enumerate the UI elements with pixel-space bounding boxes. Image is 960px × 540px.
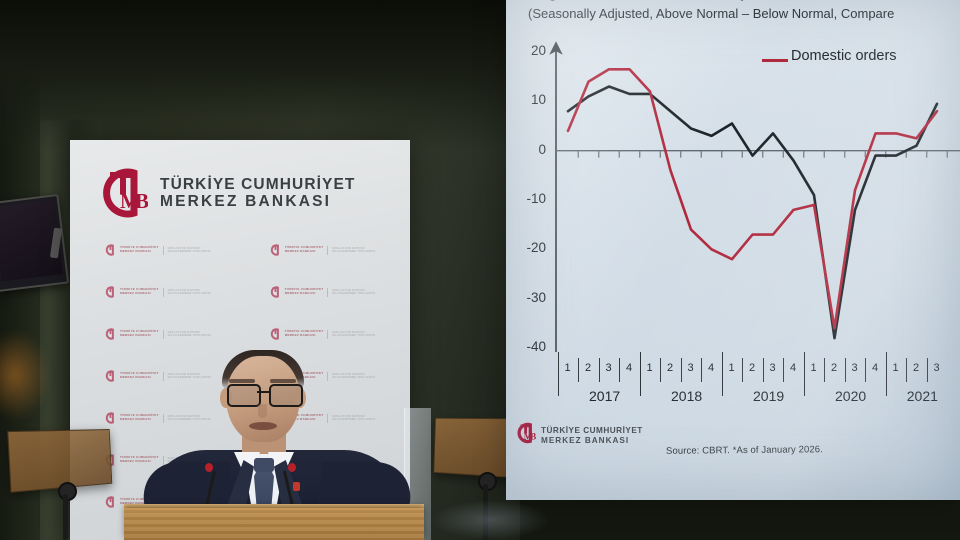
watermark-divider — [163, 288, 164, 297]
watermark-bank-line-2: MERKEZ BANKASI — [120, 334, 159, 338]
watermark-divider — [163, 330, 164, 339]
year-label: 2019 — [753, 388, 784, 404]
quarter-label: 2 — [831, 362, 837, 374]
quarter-label: 2 — [913, 362, 919, 374]
quarter-label: 1 — [729, 362, 735, 374]
watermark-item: TÜRKİYE CUMHURİYETMERKEZ BANKASIENFLASYO… — [104, 244, 211, 256]
year-separator — [804, 352, 805, 396]
year-separator — [640, 352, 641, 396]
y-tick-label: 20 — [512, 43, 546, 58]
quarter-label: 3 — [934, 362, 940, 374]
watermark-bank-name: TÜRKİYE CUMHURİYETMERKEZ BANKASI — [285, 246, 324, 253]
quarter-separator — [660, 358, 661, 382]
speaker-mouth — [249, 422, 277, 430]
eyeglass-lens-left — [227, 384, 261, 407]
watermark-row: TÜRKİYE CUMHURİYETMERKEZ BANKASIENFLASYO… — [70, 328, 410, 340]
watermark-event-name: ENFLASYON RAPORUBİLGİLENDİRME TOPLANTISI — [332, 247, 375, 253]
quarter-label: 3 — [688, 362, 694, 374]
slide-logo-line-1: TÜRKİYE CUMHURİYET — [541, 426, 643, 435]
backdrop-wordmark: TÜRKİYE CUMHURİYET MERKEZ BANKASI — [160, 176, 355, 211]
quarter-separator — [681, 358, 682, 382]
year-label: 2021 — [907, 388, 938, 404]
year-label: 2018 — [671, 388, 702, 404]
watermark-event-name: ENFLASYON RAPORUBİLGİLENDİRME TOPLANTISI — [168, 289, 211, 295]
quarter-separator — [783, 358, 784, 382]
quarter-label: 3 — [770, 362, 776, 374]
quarter-label: 3 — [606, 362, 612, 374]
eyeglass-lens-right — [269, 384, 303, 407]
slide-logo-line-2: MERKEZ BANKASI — [541, 436, 643, 445]
legend-swatch-domestic-orders — [762, 59, 788, 62]
watermark-event-name: ENFLASYON RAPORUBİLGİLENDİRME TOPLANTISI — [168, 247, 211, 253]
watermark-bank-line-2: MERKEZ BANKASI — [120, 250, 159, 254]
tcmb-logo-icon-tiny — [104, 244, 116, 256]
quarter-separator — [865, 358, 866, 382]
speaker-nose — [258, 404, 267, 418]
year-separator — [558, 352, 559, 396]
tcmb-logo-icon-tiny — [104, 496, 116, 508]
y-tick-label: -40 — [512, 339, 546, 354]
watermark-bank-name: TÜRKİYE CUMHURİYETMERKEZ BANKASI — [285, 288, 324, 295]
watermark-item: TÜRKİYE CUMHURİYETMERKEZ BANKASIENFLASYO… — [269, 286, 376, 298]
speaker-eyeglasses — [227, 384, 299, 403]
watermark-item: TÜRKİYE CUMHURİYETMERKEZ BANKASIENFLASYO… — [269, 328, 376, 340]
room-ceiling-shadow — [0, 0, 520, 150]
watermark-divider — [327, 246, 328, 255]
quarter-separator — [927, 358, 928, 382]
quarter-separator — [619, 358, 620, 382]
watermark-event-line-2: BİLGİLENDİRME TOPLANTISI — [332, 334, 375, 337]
speaker-tie-knot — [254, 458, 274, 472]
tcmb-logo-icon-tiny — [104, 328, 116, 340]
watermark-item: TÜRKİYE CUMHURİYETMERKEZ BANKASIENFLASYO… — [269, 244, 376, 256]
watermark-event-line-2: BİLGİLENDİRME TOPLANTISI — [332, 250, 375, 253]
slide-footer-wordmark: TÜRKİYE CUMHURİYET MERKEZ BANKASI — [541, 426, 643, 444]
watermark-bank-name: TÜRKİYE CUMHURİYETMERKEZ BANKASI — [120, 246, 159, 253]
quarter-label: 1 — [893, 362, 899, 374]
y-tick-label: -20 — [512, 240, 546, 255]
speaker-lapel-pin — [293, 482, 300, 491]
watermark-event-line-2: BİLGİLENDİRME TOPLANTISI — [332, 292, 375, 295]
tcmb-logo-icon-small: M B — [514, 422, 536, 449]
teleprompter-left — [7, 429, 112, 493]
watermark-bank-name: TÜRKİYE CUMHURİYETMERKEZ BANKASI — [120, 288, 159, 295]
microphone-right-head — [288, 463, 296, 472]
backdrop-logo-line-1: TÜRKİYE CUMHURİYET — [160, 176, 355, 193]
watermark-event-line-2: BİLGİLENDİRME TOPLANTISI — [168, 250, 211, 253]
quarter-separator — [742, 358, 743, 382]
speaker-eyebrow-right — [270, 379, 296, 383]
watermark-bank-name: TÜRKİYE CUMHURİYETMERKEZ BANKASI — [285, 330, 324, 337]
projected-slide: Registered Domestic and Export Orders (S… — [506, 0, 960, 500]
tcmb-logo-icon-tiny — [269, 328, 281, 340]
year-label: 2020 — [835, 388, 866, 404]
quarter-label: 2 — [749, 362, 755, 374]
y-tick-label: 10 — [512, 92, 546, 107]
year-label: 2017 — [589, 388, 620, 404]
year-separator — [722, 352, 723, 396]
watermark-event-name: ENFLASYON RAPORUBİLGİLENDİRME TOPLANTISI — [332, 331, 375, 337]
microphone-left-head — [205, 463, 213, 472]
quarter-separator — [599, 358, 600, 382]
quarter-separator — [701, 358, 702, 382]
quarter-separator — [824, 358, 825, 382]
tcmb-logo-icon: M B — [94, 166, 148, 220]
svg-text:B: B — [135, 189, 148, 213]
watermark-divider — [163, 246, 164, 255]
tcmb-logo-icon-tiny — [104, 412, 116, 424]
watermark-event-line-2: BİLGİLENDİRME TOPLANTISI — [168, 292, 211, 295]
speaker-eyebrow-left — [229, 379, 255, 383]
watermark-divider — [327, 330, 328, 339]
eyeglass-bridge — [257, 391, 269, 393]
quarter-label: 3 — [852, 362, 858, 374]
y-tick-label: -30 — [512, 290, 546, 305]
tcmb-logo-icon-tiny — [104, 370, 116, 382]
tcmb-logo-icon-tiny — [269, 244, 281, 256]
watermark-bank-line-2: MERKEZ BANKASI — [285, 250, 324, 254]
watermark-event-name: ENFLASYON RAPORUBİLGİLENDİRME TOPLANTISI — [332, 289, 375, 295]
tcmb-logo-icon-tiny — [269, 286, 281, 298]
watermark-divider — [327, 288, 328, 297]
quarter-label: 2 — [667, 362, 673, 374]
quarter-label: 4 — [790, 362, 796, 374]
watermark-item: TÜRKİYE CUMHURİYETMERKEZ BANKASIENFLASYO… — [104, 286, 211, 298]
teleprompter-left-stem — [63, 494, 68, 540]
quarter-label: 4 — [626, 362, 632, 374]
svg-text:B: B — [530, 432, 536, 442]
floor-shadow — [430, 500, 550, 540]
watermark-row: TÜRKİYE CUMHURİYETMERKEZ BANKASIENFLASYO… — [70, 286, 410, 298]
watermark-event-line-2: BİLGİLENDİRME TOPLANTISI — [168, 334, 211, 337]
quarter-label: 1 — [647, 362, 653, 374]
watermark-bank-line-2: MERKEZ BANKASI — [285, 334, 324, 338]
legend-label-domestic-orders: Domestic orders — [791, 48, 897, 64]
slide-footer-logo: M B TÜRKİYE CUMHURİYET MERKEZ BANKASI — [514, 422, 643, 449]
backdrop-logo-line-2: MERKEZ BANKASI — [160, 193, 355, 210]
watermark-row: TÜRKİYE CUMHURİYETMERKEZ BANKASIENFLASYO… — [70, 244, 410, 256]
y-tick-label: -10 — [512, 191, 546, 206]
watermark-bank-line-2: MERKEZ BANKASI — [285, 292, 324, 296]
watermark-bank-name: TÜRKİYE CUMHURİYETMERKEZ BANKASI — [120, 330, 159, 337]
quarter-label: 4 — [708, 362, 714, 374]
tcmb-logo-icon-tiny — [104, 286, 116, 298]
quarter-separator — [906, 358, 907, 382]
watermark-event-name: ENFLASYON RAPORUBİLGİLENDİRME TOPLANTISI — [168, 331, 211, 337]
quarter-label: 4 — [872, 362, 878, 374]
quarter-separator — [845, 358, 846, 382]
watermark-bank-line-2: MERKEZ BANKASI — [120, 292, 159, 296]
quarter-label: 1 — [565, 362, 571, 374]
y-tick-label: 0 — [512, 142, 546, 157]
watermark-item: TÜRKİYE CUMHURİYETMERKEZ BANKASIENFLASYO… — [104, 328, 211, 340]
slide-source-note: Source: CBRT. *As of January 2026. — [666, 444, 823, 457]
screenshot-root: M B TÜRKİYE CUMHURİYET MERKEZ BANKASI TÜ… — [0, 0, 960, 540]
quarter-label: 1 — [811, 362, 817, 374]
quarter-separator — [578, 358, 579, 382]
year-separator — [886, 352, 887, 396]
quarter-label: 2 — [585, 362, 591, 374]
backdrop-logo: M B TÜRKİYE CUMHURİYET MERKEZ BANKASI — [94, 166, 355, 220]
podium-wood-grain — [124, 510, 424, 540]
warm-light-glow — [0, 330, 50, 420]
quarter-separator — [763, 358, 764, 382]
